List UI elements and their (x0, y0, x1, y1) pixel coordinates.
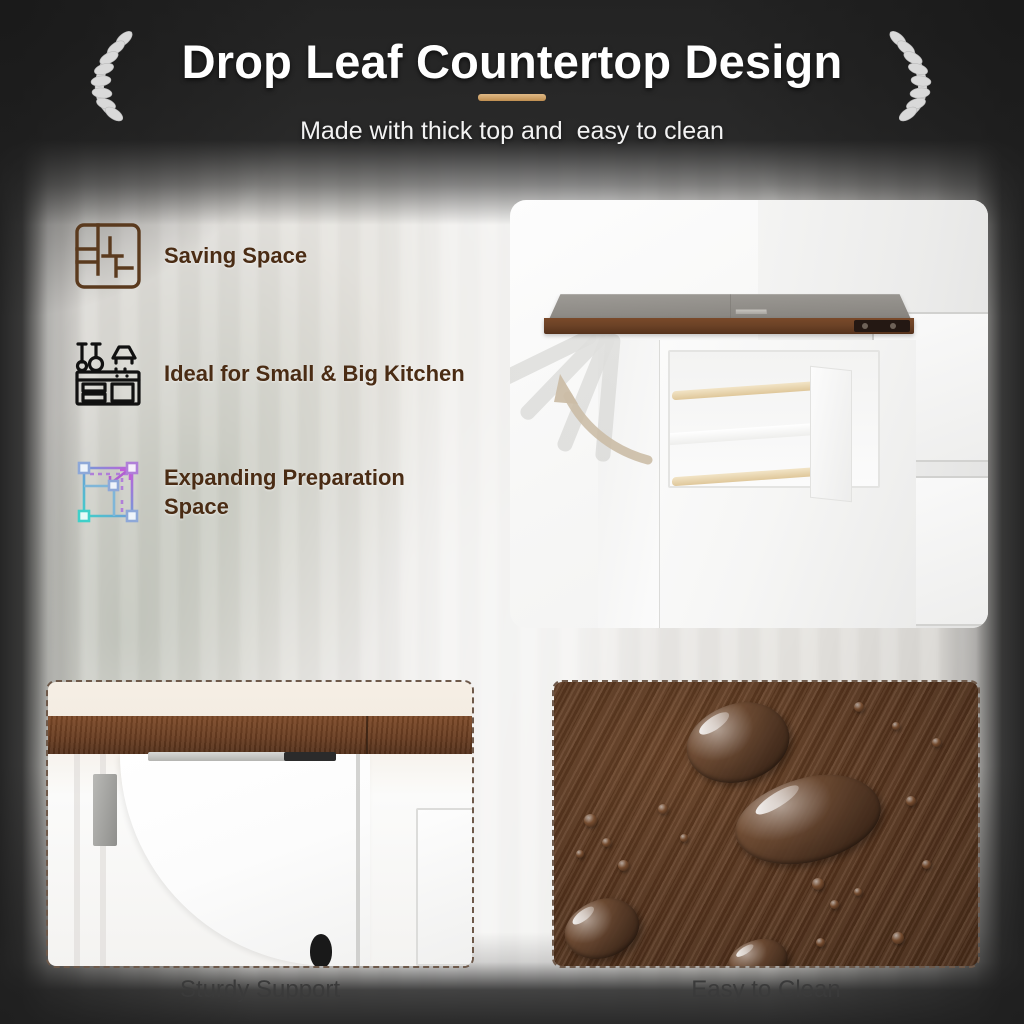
page-subtitle: Made with thick top and easy to clean (0, 117, 1024, 146)
water-droplet-small (854, 888, 862, 896)
water-droplet-small (892, 932, 904, 944)
background-stripe (74, 754, 80, 966)
water-droplet-small (922, 860, 931, 869)
island-corner-post (356, 754, 360, 966)
floor-plan-icon (70, 218, 146, 294)
laurel-branch-icon (876, 26, 948, 122)
page-title: Drop Leaf Countertop Design (0, 34, 1024, 89)
kitchen-counter-icon (70, 336, 146, 412)
expand-area-icon (70, 454, 146, 530)
feature-label: Saving Space (164, 241, 474, 270)
sturdy-support-photo (46, 680, 474, 968)
countertop-wood-edge (544, 318, 914, 334)
hinge-icon (93, 774, 117, 846)
dashed-frame (46, 680, 474, 968)
water-droplet-small (584, 814, 597, 827)
header: Drop Leaf Countertop Design Made with th… (0, 0, 1024, 170)
countertop-wood-edge (46, 716, 474, 754)
promo-canvas: Drop Leaf Countertop Design Made with th… (0, 0, 1024, 1024)
fold-motion-arrow-icon (530, 348, 660, 478)
easy-to-clean-photo (552, 680, 980, 968)
drawer-front-panel (810, 366, 852, 502)
cabinet-knob (310, 934, 332, 968)
water-droplet-small (816, 938, 825, 947)
feature-item-saving-space: Saving Space (70, 218, 474, 294)
dashed-frame (552, 680, 980, 968)
water-droplet-small (658, 804, 668, 814)
water-droplet-small (618, 860, 629, 871)
water-droplet-small (892, 722, 900, 730)
feature-item-expanding-space: Expanding Preparation Space (70, 454, 474, 530)
water-droplet-small (576, 850, 584, 858)
countertop-seam (366, 716, 368, 754)
feature-label: Expanding Preparation Space (164, 463, 474, 521)
countertop-outlet (735, 309, 768, 315)
tile-caption-easy-to-clean: Easy to Clean (552, 976, 980, 1004)
water-droplet-small (906, 796, 916, 806)
hinge-hardware-icon (854, 320, 910, 332)
water-droplet-small (602, 838, 611, 847)
drop-leaf-kitchen-island-photo (510, 200, 988, 628)
feature-item-ideal-kitchen: Ideal for Small & Big Kitchen (70, 336, 474, 412)
water-droplet-small (854, 702, 864, 712)
water-droplet-small (812, 878, 824, 890)
feature-label: Ideal for Small & Big Kitchen (164, 359, 474, 388)
accent-divider (478, 94, 546, 101)
water-droplet-small (932, 738, 941, 747)
water-droplet-small (830, 900, 839, 909)
tile-caption-sturdy-support: Sturdy Support (46, 976, 474, 1004)
bracket-hardware-icon (284, 752, 336, 761)
cabinet-panel (416, 808, 474, 966)
water-droplet-small (680, 834, 688, 842)
